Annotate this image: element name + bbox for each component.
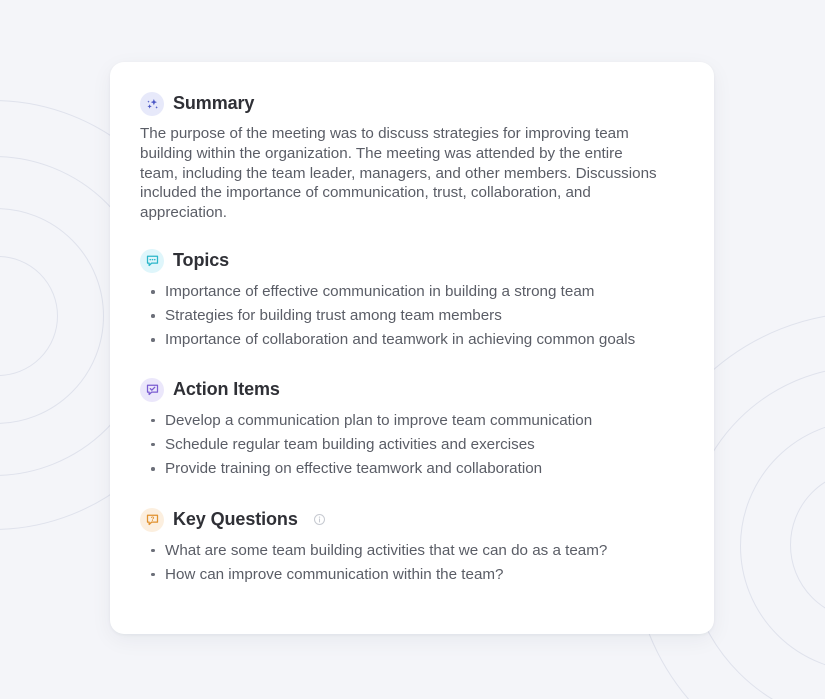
chat-bubble-question-icon: ? (140, 508, 164, 532)
list-item: Schedule regular team building activitie… (140, 435, 670, 455)
topics-list: Importance of effective communication in… (140, 282, 684, 350)
list-item: Develop a communication plan to improve … (140, 411, 670, 431)
action-items-list: Develop a communication plan to improve … (140, 411, 684, 479)
action-items-heading: Action Items (140, 378, 684, 402)
chat-bubble-check-icon (140, 378, 164, 402)
section-key-questions: ? Key Questions What are some team build… (140, 508, 684, 585)
list-item: How can improve communication within the… (140, 565, 670, 585)
summary-title: Summary (173, 93, 254, 115)
info-circle-icon[interactable] (313, 513, 326, 526)
list-item: Strategies for building trust among team… (140, 306, 670, 326)
topics-heading: Topics (140, 249, 684, 273)
key-questions-heading: ? Key Questions (140, 508, 684, 532)
summary-body: The purpose of the meeting was to discus… (140, 124, 662, 223)
section-summary: Summary The purpose of the meeting was t… (140, 92, 684, 223)
list-item: Importance of collaboration and teamwork… (140, 330, 670, 350)
key-questions-list: What are some team building activities t… (140, 541, 684, 585)
meeting-notes-card: Summary The purpose of the meeting was t… (110, 62, 714, 634)
section-action-items: Action Items Develop a communication pla… (140, 378, 684, 479)
section-topics: Topics Importance of effective communica… (140, 249, 684, 350)
list-item: Importance of effective communication in… (140, 282, 670, 302)
topics-title: Topics (173, 250, 229, 272)
decorative-ring (0, 256, 58, 376)
list-item: What are some team building activities t… (140, 541, 670, 561)
summary-heading: Summary (140, 92, 684, 116)
key-questions-title: Key Questions (173, 509, 298, 531)
decorative-ring (790, 470, 825, 620)
decorative-ring (0, 208, 104, 424)
sparkle-icon (140, 92, 164, 116)
action-items-title: Action Items (173, 379, 280, 401)
list-item: Provide training on effective teamwork a… (140, 459, 670, 479)
chat-bubble-dots-icon (140, 249, 164, 273)
svg-text:?: ? (150, 516, 154, 523)
decorative-ring (740, 420, 825, 672)
